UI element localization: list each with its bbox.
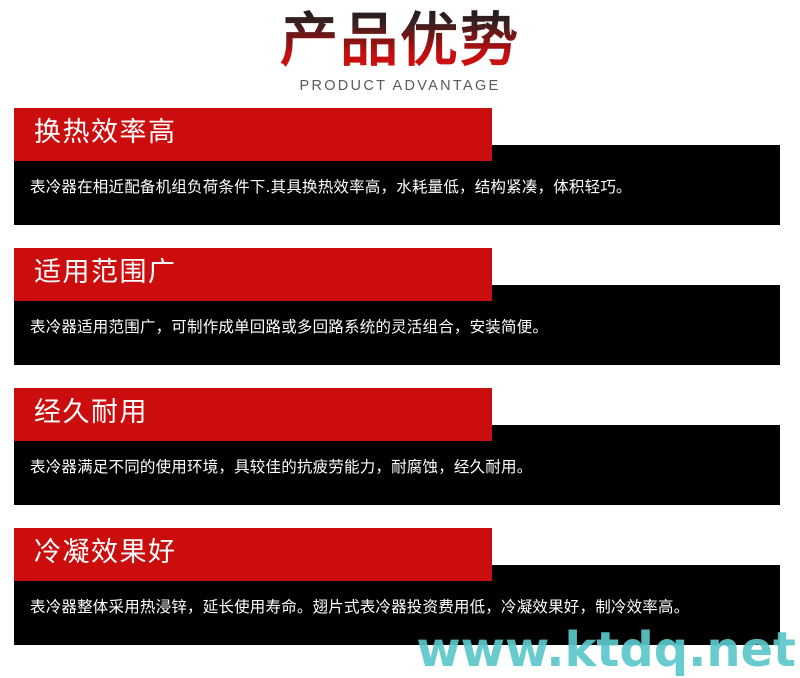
advantage-title-text-3: 经久耐用 xyxy=(34,395,148,431)
page-header: 产品优势 PRODUCT ADVANTAGE xyxy=(0,0,800,94)
advantage-title-bar-2: 适用范围广 xyxy=(14,248,492,301)
advantage-section-1: 表冷器在相近配备机组负荷条件下.其具换热效率高，水耗量低，结构紧凑，体积轻巧。 … xyxy=(0,108,800,225)
advantage-body-text-2: 表冷器适用范围广，可制作成单回路或多回路系统的灵活组合，安装简便。 xyxy=(30,318,548,337)
advantage-body-text-1: 表冷器在相近配备机组负荷条件下.其具换热效率高，水耗量低，结构紧凑，体积轻巧。 xyxy=(30,178,632,197)
advantage-section-3: 表冷器满足不同的使用环境，具较佳的抗疲劳能力，耐腐蚀，经久耐用。 经久耐用 xyxy=(0,388,800,505)
advantage-title-bar-1: 换热效率高 xyxy=(14,108,492,161)
advantage-body-text-4: 表冷器整体采用热浸锌，延长使用寿命。翅片式表冷器投资费用低，冷凝效果好，制冷效率… xyxy=(30,598,689,617)
advantage-section-2: 表冷器适用范围广，可制作成单回路或多回路系统的灵活组合，安装简便。 适用范围广 xyxy=(0,248,800,365)
advantage-title-text-1: 换热效率高 xyxy=(34,115,177,151)
advantage-section-list: 表冷器在相近配备机组负荷条件下.其具换热效率高，水耗量低，结构紧凑，体积轻巧。 … xyxy=(0,108,800,645)
page-subtitle: PRODUCT ADVANTAGE xyxy=(0,78,800,94)
advantage-title-text-4: 冷凝效果好 xyxy=(34,535,177,571)
advantage-title-bar-3: 经久耐用 xyxy=(14,388,492,441)
advantage-body-text-3: 表冷器满足不同的使用环境，具较佳的抗疲劳能力，耐腐蚀，经久耐用。 xyxy=(30,458,532,477)
page-title: 产品优势 xyxy=(0,10,800,71)
advantage-section-4: 表冷器整体采用热浸锌，延长使用寿命。翅片式表冷器投资费用低，冷凝效果好，制冷效率… xyxy=(0,528,800,645)
advantage-title-text-2: 适用范围广 xyxy=(34,255,177,291)
advantage-title-bar-4: 冷凝效果好 xyxy=(14,528,492,581)
